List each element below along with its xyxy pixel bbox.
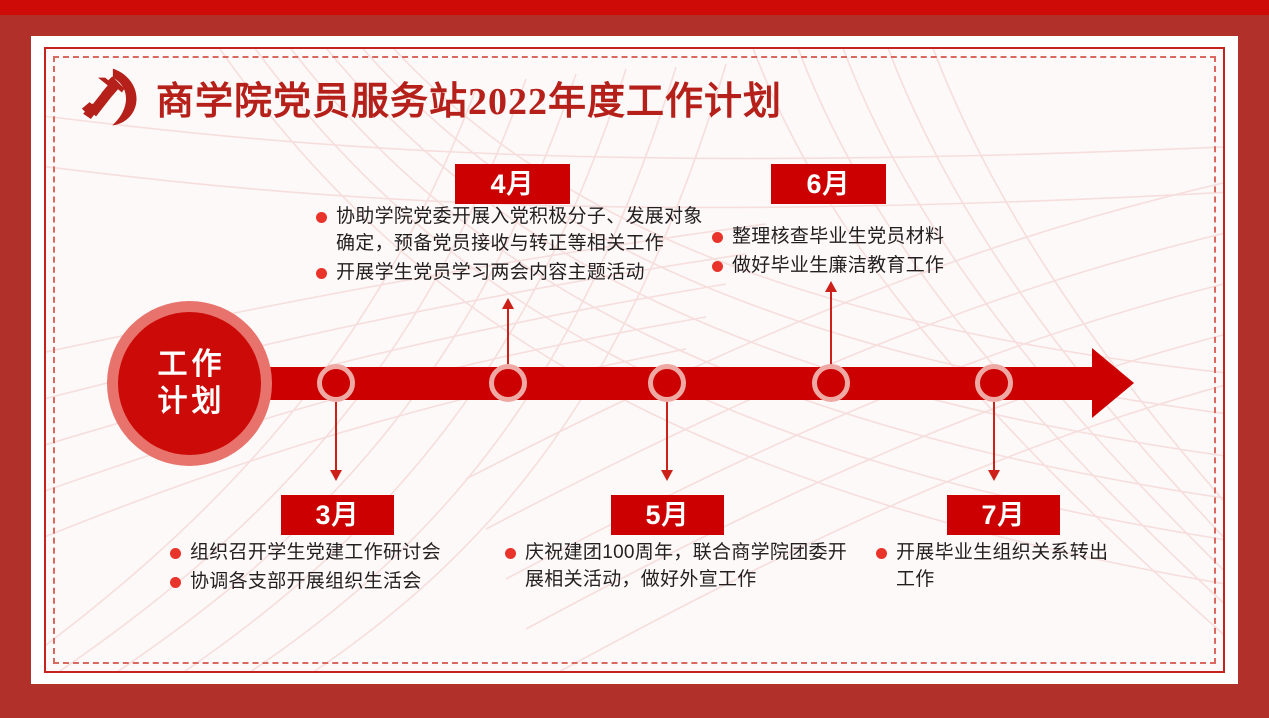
timeline-node-may[interactable] [648, 364, 686, 402]
connector-arrow-march [330, 470, 342, 481]
connector-arrow-april [502, 298, 514, 309]
list-item: 组织召开学生党建工作研讨会 [170, 540, 500, 567]
list-item-text: 组织召开学生党建工作研讨会 [190, 540, 441, 567]
list-item: 庆祝建团100周年，联合商学院团委开展相关活动，做好外宣工作 [505, 540, 850, 594]
connector-arrow-june [825, 281, 837, 292]
month-chip-march[interactable]: 3月 [281, 495, 394, 535]
timeline-node-march[interactable] [317, 364, 355, 402]
hub-label-line2: 计划 [154, 384, 226, 421]
connector-arrow-may [661, 470, 673, 481]
list-item: 协助学院党委开展入党积极分子、发展对象确定，预备党员接收与转正等相关工作 [316, 204, 712, 258]
timeline-node-april[interactable] [489, 364, 527, 402]
bullet-dot-icon [316, 268, 327, 279]
list-item: 协调各支部开展组织生活会 [170, 569, 500, 596]
month-chip-june[interactable]: 6月 [771, 164, 886, 204]
list-item: 整理核查毕业生党员材料 [712, 224, 1042, 251]
milestone-content-june: 整理核查毕业生党员材料 做好毕业生廉洁教育工作 [712, 224, 1042, 282]
list-item-text: 协助学院党委开展入党积极分子、发展对象确定，预备党员接收与转正等相关工作 [336, 204, 712, 258]
list-item-text: 协调各支部开展组织生活会 [190, 569, 422, 596]
list-item-text: 庆祝建团100周年，联合商学院团委开展相关活动，做好外宣工作 [525, 540, 850, 594]
slide-root: 商学院党员服务站2022年度工作计划 工作 计划 [0, 0, 1269, 718]
milestone-content-march: 组织召开学生党建工作研讨会 协调各支部开展组织生活会 [170, 540, 500, 598]
right-arrow-icon [1092, 348, 1134, 418]
list-item-text: 整理核查毕业生党员材料 [732, 224, 944, 251]
connector-line-july [993, 402, 995, 472]
list-item: 开展学生党员学习两会内容主题活动 [316, 260, 712, 287]
hub-badge: 工作 计划 [118, 312, 261, 455]
month-chip-april[interactable]: 4月 [455, 164, 570, 204]
hub-label-line1: 工作 [154, 347, 226, 384]
slide-header: 商学院党员服务站2022年度工作计划 [76, 66, 782, 128]
month-chip-july[interactable]: 7月 [947, 495, 1060, 535]
timeline-node-july[interactable] [975, 364, 1013, 402]
list-item-text: 开展学生党员学习两会内容主题活动 [336, 260, 645, 287]
bullet-dot-icon [712, 261, 723, 272]
list-item: 开展毕业生组织关系转出工作 [876, 540, 1126, 594]
list-item-text: 开展毕业生组织关系转出工作 [896, 540, 1126, 594]
connector-arrow-july [988, 470, 1000, 481]
timeline-node-june[interactable] [812, 364, 850, 402]
list-item: 做好毕业生廉洁教育工作 [712, 253, 1042, 280]
bullet-dot-icon [170, 577, 181, 588]
connector-line-may [666, 402, 668, 472]
cpc-hammer-sickle-emblem-icon [76, 66, 142, 128]
connector-line-june [830, 289, 832, 366]
slide-content: 商学院党员服务站2022年度工作计划 工作 计划 [0, 0, 1269, 718]
connector-line-april [507, 306, 509, 366]
list-item-text: 做好毕业生廉洁教育工作 [732, 253, 944, 280]
bullet-dot-icon [712, 232, 723, 243]
bullet-dot-icon [170, 548, 181, 559]
month-chip-may[interactable]: 5月 [611, 495, 724, 535]
milestone-content-april: 协助学院党委开展入党积极分子、发展对象确定，预备党员接收与转正等相关工作 开展学… [316, 204, 712, 289]
milestone-content-july: 开展毕业生组织关系转出工作 [876, 540, 1126, 596]
milestone-content-may: 庆祝建团100周年，联合商学院团委开展相关活动，做好外宣工作 [505, 540, 850, 596]
bullet-dot-icon [505, 548, 516, 559]
bullet-dot-icon [876, 548, 887, 559]
bullet-dot-icon [316, 212, 327, 223]
connector-line-march [335, 402, 337, 472]
page-title: 商学院党员服务站2022年度工作计划 [156, 70, 782, 125]
